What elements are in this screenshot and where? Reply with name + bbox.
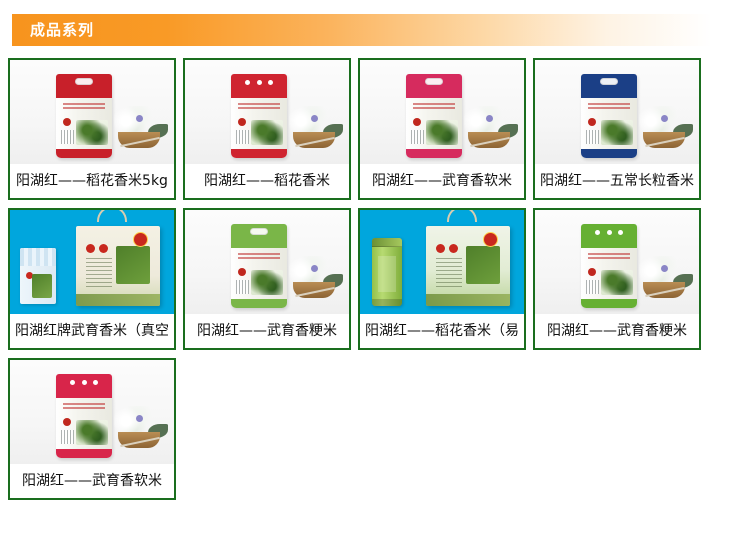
gift-box-seal-icon xyxy=(133,232,148,247)
gift-box-badges xyxy=(86,244,116,254)
flower-bud-icon xyxy=(661,265,668,272)
bag-header-text xyxy=(413,103,455,112)
bag-front-panel xyxy=(56,98,112,150)
bag-side-bars xyxy=(61,430,74,444)
bag-side-bars xyxy=(586,280,599,294)
product-image[interactable] xyxy=(10,360,174,464)
product-card[interactable]: 阳湖红——五常长粒香米 xyxy=(533,58,701,200)
bag-seal-icon xyxy=(588,268,596,276)
bag-seal-icon xyxy=(63,118,71,126)
product-gallery-page: 成品系列 阳湖红——稻花香米5kg阳湖红——稻花香米阳湖红——武育香软米阳湖红—… xyxy=(0,0,730,536)
product-image[interactable] xyxy=(185,210,349,314)
product-image[interactable] xyxy=(10,210,174,314)
bag-header-text xyxy=(63,103,105,112)
bag-brand-artwork xyxy=(76,420,108,445)
flower-bud-icon xyxy=(311,115,318,122)
bag-bottom-panel xyxy=(581,299,637,308)
bag-brand-artwork xyxy=(76,120,108,145)
bag-bottom-panel xyxy=(406,149,462,158)
bag-front-panel xyxy=(581,98,637,150)
bag-brand-artwork xyxy=(426,120,458,145)
bag-front-panel xyxy=(56,398,112,450)
bag-dots xyxy=(245,80,273,85)
gift-box-footer-strip xyxy=(76,294,160,306)
gift-box-graphic xyxy=(76,226,160,306)
flower-bud-icon xyxy=(136,415,143,422)
bag-brand-artwork xyxy=(251,270,283,295)
bag-top-panel xyxy=(231,224,287,248)
can-lid xyxy=(372,238,402,247)
gift-box-logo xyxy=(466,246,500,284)
flower-basket-prop xyxy=(287,252,341,298)
bag-front-panel xyxy=(581,248,637,300)
can-base xyxy=(372,299,402,306)
section-title: 成品系列 xyxy=(30,23,94,38)
bag-top-panel xyxy=(581,74,637,98)
product-card[interactable]: 阳湖红牌武育香米（真空 xyxy=(8,208,176,350)
bag-top-panel xyxy=(56,374,112,398)
product-title[interactable]: 阳湖红——稻花香米（易 xyxy=(360,314,524,348)
product-card[interactable]: 阳湖红——稻花香米（易 xyxy=(358,208,526,350)
gift-box-text-block xyxy=(436,258,462,290)
bag-seal-icon xyxy=(238,118,246,126)
flower-basket-prop xyxy=(112,102,166,148)
bag-brand-artwork xyxy=(601,120,633,145)
vacuum-pack-top xyxy=(20,248,56,266)
product-title[interactable]: 阳湖红——武育香粳米 xyxy=(185,314,349,348)
product-grid: 阳湖红——稻花香米5kg阳湖红——稻花香米阳湖红——武育香软米阳湖红——五常长粒… xyxy=(8,58,722,500)
bag-bottom-panel xyxy=(56,449,112,458)
bag-handle xyxy=(425,78,443,85)
flower-basket-prop xyxy=(637,102,691,148)
bag-seal-icon xyxy=(588,118,596,126)
flower-basket-prop xyxy=(462,102,516,148)
rice-bag-graphic xyxy=(231,74,287,158)
gift-box-text-block xyxy=(86,258,112,290)
gift-box-footer-strip xyxy=(426,294,510,306)
gift-box-badges xyxy=(436,244,466,254)
product-card[interactable]: 阳湖红——武育香软米 xyxy=(358,58,526,200)
product-title[interactable]: 阳湖红——武育香软米 xyxy=(360,164,524,198)
bag-handle xyxy=(250,228,268,235)
product-title[interactable]: 阳湖红——稻花香米5kg xyxy=(10,164,174,198)
can-label xyxy=(378,256,396,292)
bag-side-bars xyxy=(236,130,249,144)
rice-bag-graphic xyxy=(56,74,112,158)
product-card[interactable]: 阳湖红——稻花香米 xyxy=(183,58,351,200)
bag-side-bars xyxy=(411,130,424,144)
product-image[interactable] xyxy=(10,60,174,164)
product-image[interactable] xyxy=(360,60,524,164)
flower-bud-icon xyxy=(311,265,318,272)
bag-bottom-panel xyxy=(231,299,287,308)
product-title[interactable]: 阳湖红——武育香粳米 xyxy=(535,314,699,348)
flower-bud-icon xyxy=(136,115,143,122)
product-card[interactable]: 阳湖红——武育香粳米 xyxy=(533,208,701,350)
bag-handle xyxy=(75,78,93,85)
product-image[interactable] xyxy=(360,210,524,314)
bag-brand-artwork xyxy=(601,270,633,295)
bag-front-panel xyxy=(406,98,462,150)
gift-box-handle-rope xyxy=(97,210,127,222)
bag-bottom-panel xyxy=(56,149,112,158)
bag-top-panel xyxy=(581,224,637,248)
bag-brand-artwork xyxy=(251,120,283,145)
bag-header-text xyxy=(63,403,105,412)
bag-seal-icon xyxy=(63,418,71,426)
rice-bag-graphic xyxy=(581,224,637,308)
flower-bud-icon xyxy=(661,115,668,122)
section-header-bar: 成品系列 xyxy=(12,14,712,46)
flower-bud-icon xyxy=(486,115,493,122)
bag-header-text xyxy=(588,103,630,112)
bag-header-text xyxy=(238,103,280,112)
rice-bag-graphic xyxy=(581,74,637,158)
product-image[interactable] xyxy=(535,210,699,314)
rice-bag-graphic xyxy=(56,374,112,458)
product-image[interactable] xyxy=(185,60,349,164)
gift-box-logo xyxy=(116,246,150,284)
bag-dots xyxy=(70,380,98,385)
bag-header-text xyxy=(238,253,280,262)
bag-seal-icon xyxy=(238,268,246,276)
vacuum-pack-graphic xyxy=(20,248,56,304)
bag-top-panel xyxy=(406,74,462,98)
flower-basket-prop xyxy=(637,252,691,298)
gift-box-handle-rope xyxy=(447,210,477,222)
bag-header-text xyxy=(588,253,630,262)
rice-can-graphic xyxy=(372,238,402,306)
product-title[interactable]: 阳湖红牌武育香米（真空 xyxy=(10,314,174,348)
product-title[interactable]: 阳湖红——五常长粒香米 xyxy=(535,164,699,198)
gift-box-graphic xyxy=(426,226,510,306)
rice-bag-graphic xyxy=(406,74,462,158)
product-image[interactable] xyxy=(535,60,699,164)
product-card[interactable]: 阳湖红——武育香粳米 xyxy=(183,208,351,350)
bag-side-bars xyxy=(586,130,599,144)
flower-basket-prop xyxy=(287,102,341,148)
rice-bag-graphic xyxy=(231,224,287,308)
product-card[interactable]: 阳湖红——武育香软米 xyxy=(8,358,176,500)
product-title[interactable]: 阳湖红——武育香软米 xyxy=(10,464,174,498)
bag-side-bars xyxy=(236,280,249,294)
product-title[interactable]: 阳湖红——稻花香米 xyxy=(185,164,349,198)
bag-front-panel xyxy=(231,248,287,300)
gift-box-seal-icon xyxy=(483,232,498,247)
bag-bottom-panel xyxy=(581,149,637,158)
product-card[interactable]: 阳湖红——稻花香米5kg xyxy=(8,58,176,200)
bag-side-bars xyxy=(61,130,74,144)
bag-seal-icon xyxy=(413,118,421,126)
bag-top-panel xyxy=(231,74,287,98)
bag-top-panel xyxy=(56,74,112,98)
bag-bottom-panel xyxy=(231,149,287,158)
bag-dots xyxy=(595,230,623,235)
bag-front-panel xyxy=(231,98,287,150)
flower-basket-prop xyxy=(112,402,166,448)
bag-handle xyxy=(600,78,618,85)
vacuum-pack-logo xyxy=(32,274,52,298)
